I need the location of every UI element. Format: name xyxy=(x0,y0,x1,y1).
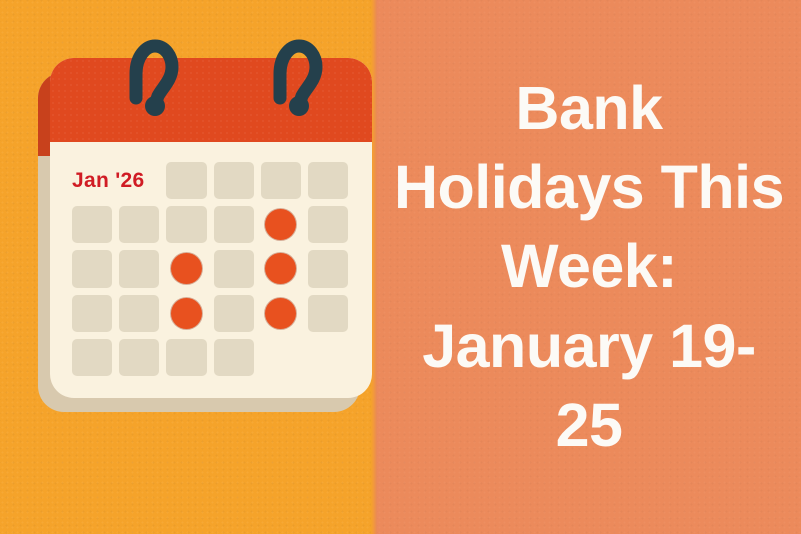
headline-block: Bank Holidays This Week: January 19-25 xyxy=(377,0,801,534)
calendar-day-cell xyxy=(119,206,159,243)
calendar-highlight-dot xyxy=(261,250,301,287)
calendar-highlight-dot xyxy=(166,295,206,332)
calendar-highlight-dot xyxy=(166,250,206,287)
calendar-day-cell xyxy=(214,162,254,199)
calendar-day-cell xyxy=(166,339,206,376)
calendar-day-cell xyxy=(261,162,301,199)
headline-title: Bank Holidays This Week: January 19-25 xyxy=(391,69,787,465)
calendar-day-cell xyxy=(214,295,254,332)
calendar-empty-slot xyxy=(308,339,348,376)
calendar-day-cell xyxy=(308,295,348,332)
calendar-day-cell xyxy=(166,206,206,243)
calendar-highlight-dot xyxy=(261,295,301,332)
calendar-day-cell xyxy=(308,206,348,243)
calendar-day-cell xyxy=(72,339,112,376)
calendar-day-cell xyxy=(214,250,254,287)
calendar-day-cell xyxy=(72,295,112,332)
calendar-day-cell xyxy=(72,206,112,243)
calendar-highlight-dot xyxy=(261,206,301,243)
calendar-day-cell xyxy=(119,339,159,376)
binder-ring-icon xyxy=(270,36,324,126)
calendar-day-cell xyxy=(308,250,348,287)
calendar-empty-slot xyxy=(261,339,301,376)
calendar-day-cell xyxy=(214,339,254,376)
calendar-day-cell xyxy=(308,162,348,199)
calendar-day-cell xyxy=(72,250,112,287)
calendar-day-grid: Jan '26 xyxy=(50,142,372,398)
calendar-day-cell xyxy=(119,295,159,332)
calendar-day-cell xyxy=(214,206,254,243)
binder-ring-icon xyxy=(126,36,180,126)
calendar-day-cell xyxy=(166,162,206,199)
poster-canvas: Jan '26 xyxy=(0,0,801,534)
calendar-illustration: Jan '26 xyxy=(38,58,372,414)
calendar-month-label: Jan '26 xyxy=(72,162,159,199)
calendar-day-cell xyxy=(119,250,159,287)
